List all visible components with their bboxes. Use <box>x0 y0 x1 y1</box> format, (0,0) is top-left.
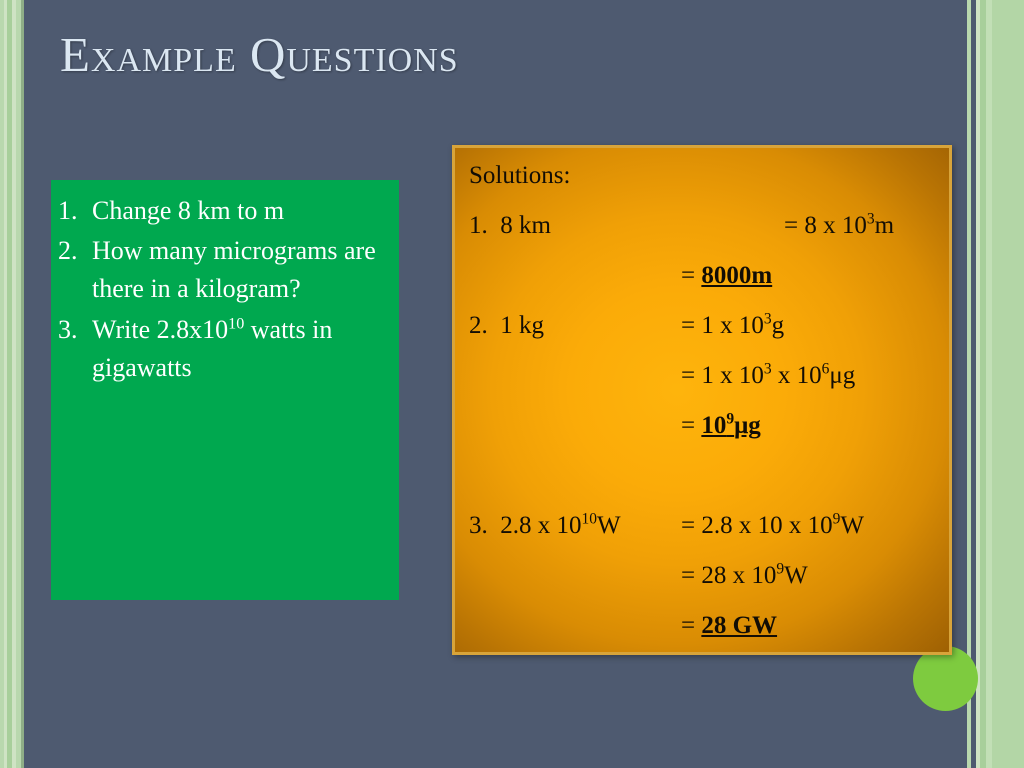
solution-final-answer: = 109μg <box>681 412 761 440</box>
solution-label: 2. 1 kg <box>469 312 544 340</box>
question-number: 3. <box>58 311 78 349</box>
solution-result: = 8 x 103m <box>784 212 894 240</box>
solution-final-answer: = 8000m <box>681 262 772 290</box>
solutions-box: Solutions: 1. 8 km = 8 x 103m = 8000m 2.… <box>452 145 952 655</box>
solution-quantity: 8 km <box>500 212 551 239</box>
result-exponent: 3 <box>764 311 772 328</box>
solution-number: 2. <box>469 312 488 339</box>
list-item: 2. How many micrograms are there in a ki… <box>58 232 389 308</box>
solution-result: = 1 x 103 x 106μg <box>681 362 855 390</box>
questions-list: 1. Change 8 km to m 2. How many microgra… <box>58 192 389 387</box>
result-exponent: 3 <box>867 211 875 228</box>
solutions-heading: Solutions: <box>469 162 570 190</box>
solution-result: = 2.8 x 10 x 109W <box>681 512 864 540</box>
solution-quantity: 2.8 x 10 <box>500 512 581 539</box>
result-exponent: 9 <box>776 561 784 578</box>
solution-label: 3. 2.8 x 1010W <box>469 512 621 540</box>
list-item: 3. Write 2.8x1010 watts in gigawatts <box>58 311 389 387</box>
solution-entry-3-line-3: = 28 GW <box>469 612 949 662</box>
question-text: How many micrograms are there in a kilog… <box>92 236 376 303</box>
solution-result: = 1 x 103g <box>681 312 784 340</box>
solution-entry-1-line-2: = 8000m <box>469 262 949 312</box>
solution-entry-3-line-1: 3. 2.8 x 1010W = 2.8 x 10 x 109W <box>469 512 949 562</box>
answer-value: 109μg <box>701 412 760 439</box>
question-number: 2. <box>58 232 78 270</box>
list-item: 1. Change 8 km to m <box>58 192 389 230</box>
solution-entry-2-line-2: = 1 x 103 x 106μg <box>469 362 949 412</box>
answer-value: 8000m <box>701 262 772 289</box>
solution-entry-1-line-1: 1. 8 km = 8 x 103m <box>469 212 949 262</box>
questions-box: 1. Change 8 km to m 2. How many microgra… <box>51 180 399 600</box>
answer-exponent: 9 <box>726 411 734 428</box>
solution-entry-2-line-1: 2. 1 kg = 1 x 103g <box>469 312 949 362</box>
question-text: Write 2.8x10 <box>92 315 228 344</box>
question-text: Change 8 km to m <box>92 196 284 225</box>
slide-title: Example Questions <box>60 26 459 83</box>
slide-canvas: Example Questions 1. Change 8 km to m 2.… <box>0 0 1024 768</box>
solutions-heading-line: Solutions: <box>469 162 949 212</box>
question-exponent: 10 <box>228 315 244 332</box>
solution-final-answer: = 28 GW <box>681 612 777 640</box>
result-exponent: 3 <box>764 361 772 378</box>
solution-number: 3. <box>469 512 488 539</box>
solution-label: 1. 8 km <box>469 212 551 240</box>
quantity-exponent: 10 <box>582 511 598 528</box>
solution-result: = 28 x 109W <box>681 562 808 590</box>
solution-entry-2-line-3: = 109μg <box>469 412 949 462</box>
solutions-spacer <box>469 462 949 512</box>
solution-quantity: 1 kg <box>500 312 544 339</box>
left-stripe-6 <box>21 0 24 768</box>
right-stripe-6 <box>992 0 1024 768</box>
solution-number: 1. <box>469 212 488 239</box>
solution-entry-3-line-2: = 28 x 109W <box>469 562 949 612</box>
question-number: 1. <box>58 192 78 230</box>
answer-value: 28 GW <box>701 612 777 639</box>
